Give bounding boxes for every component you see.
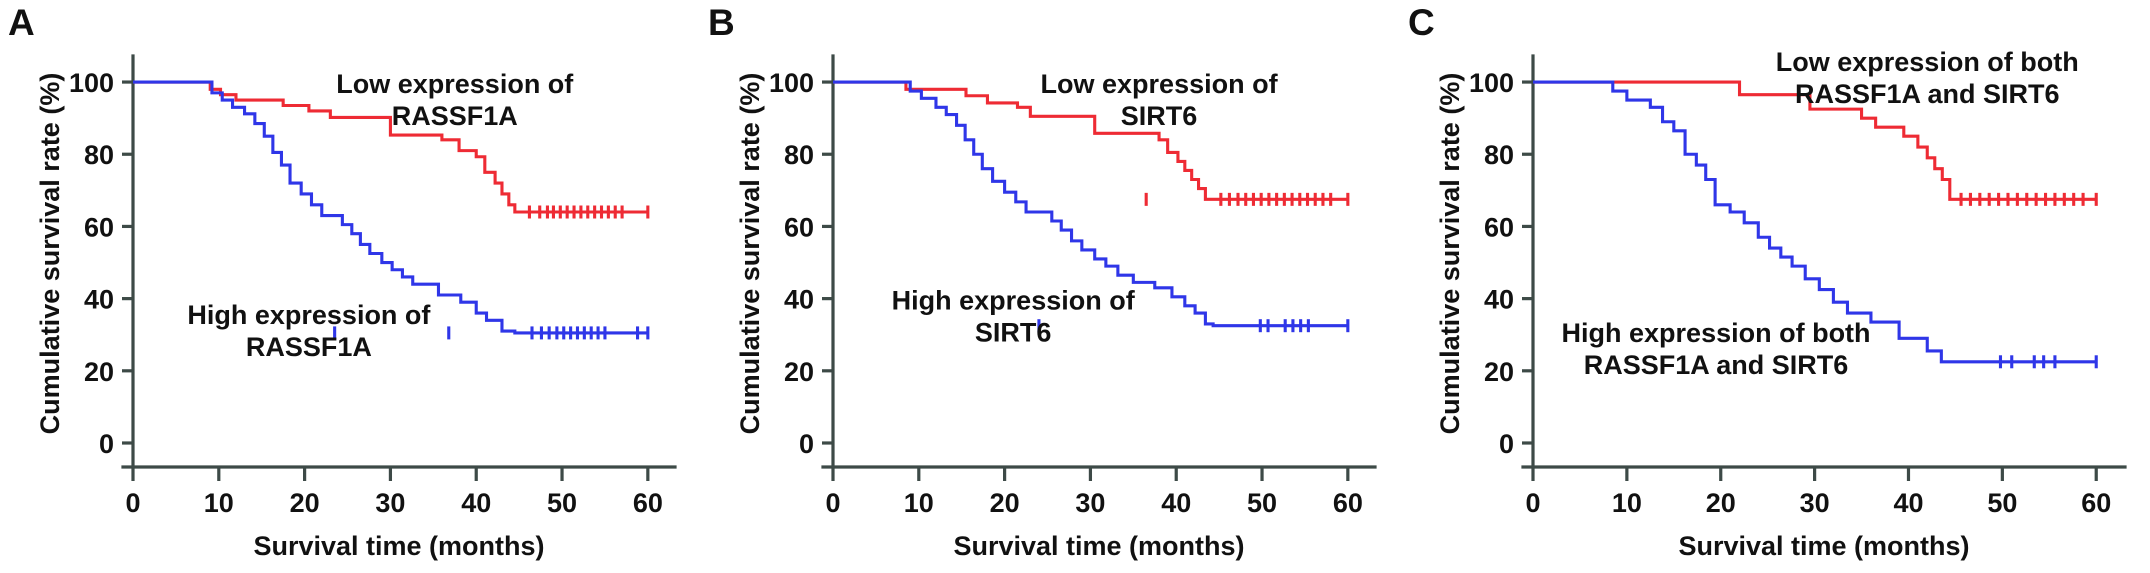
curve-annotation-line2: RASSF1A and SIRT6 <box>1795 79 2060 109</box>
x-tick-label: 10 <box>204 488 234 518</box>
x-tick-label: 0 <box>125 488 140 518</box>
x-tick-label: 40 <box>1893 488 1923 518</box>
x-axis-title: Survival time (months) <box>1678 531 1969 561</box>
x-tick-label: 60 <box>633 488 663 518</box>
y-tick-label: 100 <box>1469 68 1514 98</box>
y-tick-label: 80 <box>1484 140 1514 170</box>
y-tick-label: 60 <box>1484 212 1514 242</box>
y-tick-label: 60 <box>84 212 114 242</box>
x-tick-label: 40 <box>461 488 491 518</box>
panel-a: A 0204060801000102030405060Survival time… <box>0 0 700 573</box>
y-tick-label: 80 <box>784 140 814 170</box>
x-tick-label: 40 <box>1161 488 1191 518</box>
x-axis-title: Survival time (months) <box>953 531 1244 561</box>
x-tick-label: 10 <box>1612 488 1642 518</box>
y-tick-label: 20 <box>1484 357 1514 387</box>
x-tick-label: 0 <box>1525 488 1540 518</box>
x-tick-label: 30 <box>1800 488 1830 518</box>
panel-c: C 0204060801000102030405060Survival time… <box>1400 0 2150 573</box>
y-tick-label: 40 <box>84 285 114 315</box>
y-axis-title: Cumulative survival rate (%) <box>735 73 765 435</box>
y-axis-title: Cumulative survival rate (%) <box>1435 73 1465 435</box>
x-tick-label: 30 <box>375 488 405 518</box>
y-tick-label: 0 <box>799 429 814 459</box>
curve-annotation-line1: High expression of <box>187 300 431 330</box>
x-tick-label: 50 <box>1247 488 1277 518</box>
y-tick-label: 40 <box>1484 285 1514 315</box>
km-plot-b: 0204060801000102030405060Survival time (… <box>700 0 1400 573</box>
y-axis-title: Cumulative survival rate (%) <box>35 73 65 435</box>
x-tick-label: 20 <box>990 488 1020 518</box>
survival-curve <box>833 82 1348 199</box>
curve-annotation-line2: RASSF1A <box>246 332 372 362</box>
km-plot-a: 0204060801000102030405060Survival time (… <box>0 0 700 573</box>
curve-annotation-line1: Low expression of <box>336 69 574 99</box>
x-tick-label: 0 <box>825 488 840 518</box>
x-tick-label: 60 <box>2081 488 2111 518</box>
x-tick-label: 10 <box>904 488 934 518</box>
survival-curve <box>133 82 648 212</box>
y-tick-label: 0 <box>1499 429 1514 459</box>
curve-annotation-line1: High expression of both <box>1562 318 1871 348</box>
y-tick-label: 20 <box>784 357 814 387</box>
x-tick-label: 20 <box>1706 488 1736 518</box>
y-tick-label: 100 <box>769 68 814 98</box>
y-tick-label: 0 <box>99 429 114 459</box>
x-tick-label: 20 <box>290 488 320 518</box>
y-tick-label: 60 <box>784 212 814 242</box>
y-tick-label: 40 <box>784 285 814 315</box>
panel-b: B 0204060801000102030405060Survival time… <box>700 0 1400 573</box>
survival-figure: A 0204060801000102030405060Survival time… <box>0 0 2150 573</box>
km-plot-c: 0204060801000102030405060Survival time (… <box>1400 0 2150 573</box>
curve-annotation-line1: High expression of <box>892 285 1136 315</box>
x-tick-label: 30 <box>1075 488 1105 518</box>
y-tick-label: 100 <box>69 68 114 98</box>
curve-annotation-line2: SIRT6 <box>975 317 1052 347</box>
x-tick-label: 50 <box>1987 488 2017 518</box>
curve-annotation-line1: Low expression of both <box>1776 47 2079 77</box>
x-tick-label: 50 <box>547 488 577 518</box>
x-tick-label: 60 <box>1333 488 1363 518</box>
y-tick-label: 80 <box>84 140 114 170</box>
curve-annotation-line2: RASSF1A <box>392 101 518 131</box>
y-tick-label: 20 <box>84 357 114 387</box>
curve-annotation-line1: Low expression of <box>1041 69 1279 99</box>
curve-annotation-line2: SIRT6 <box>1121 101 1198 131</box>
curve-annotation-line2: RASSF1A and SIRT6 <box>1584 350 1849 380</box>
x-axis-title: Survival time (months) <box>253 531 544 561</box>
